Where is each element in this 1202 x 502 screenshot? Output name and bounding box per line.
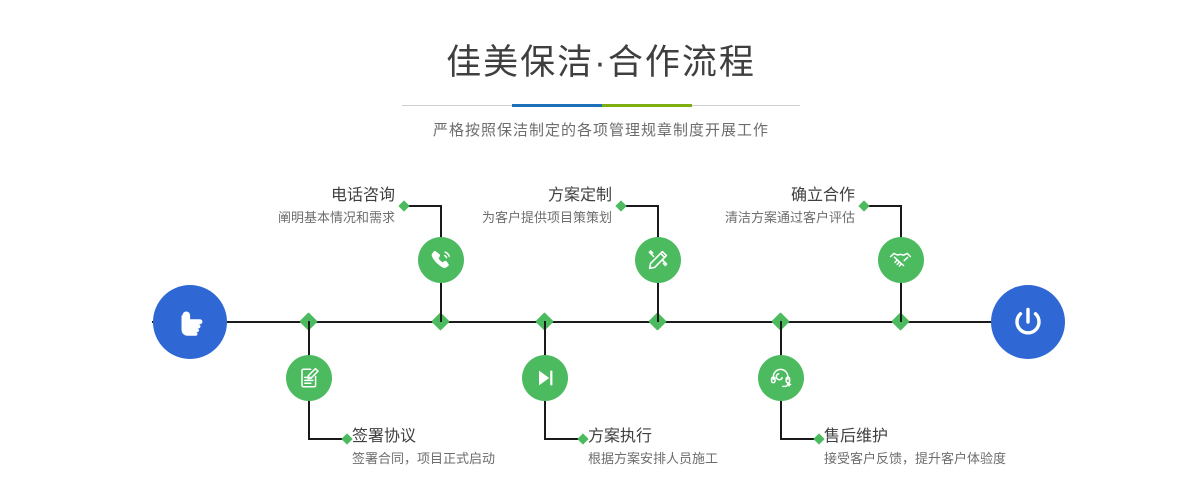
step-desc: 接受客户反馈，提升客户体验度	[824, 449, 1104, 469]
step-label-top-3: 确立合作 清洁方案通过客户评估	[610, 186, 855, 228]
support-headset-icon	[768, 365, 794, 391]
connector-horizontal-bottom-3	[780, 438, 817, 440]
step-title: 方案定制	[370, 186, 612, 206]
branch-dot-bottom-1	[341, 433, 352, 444]
pencil-ruler-icon	[645, 247, 671, 273]
step-label-top-1: 电话咨询 阐明基本情况和需求	[150, 186, 395, 228]
flowchart-canvas: 佳美保洁·合作流程 严格按照保洁制定的各项管理规章制度开展工作	[0, 0, 1202, 502]
divider-blue-segment	[512, 104, 602, 107]
page-title: 佳美保洁·合作流程	[0, 42, 1202, 84]
step-desc: 根据方案安排人员施工	[588, 449, 838, 469]
step-desc: 为客户提供项目策策划	[370, 208, 612, 228]
title-divider	[402, 104, 800, 107]
step-label-bottom-1: 签署协议 签署合同，项目正式启动	[352, 427, 602, 469]
play-next-icon	[532, 365, 558, 391]
step-desc: 清洁方案通过客户评估	[610, 208, 855, 228]
branch-dot-top-3	[858, 200, 869, 211]
step-icon-top-1	[418, 237, 464, 283]
step-title: 确立合作	[610, 186, 855, 206]
step-icon-bottom-2	[522, 355, 568, 401]
step-icon-top-3	[878, 237, 924, 283]
divider-green-segment	[602, 104, 692, 107]
power-icon	[1007, 301, 1049, 343]
step-title: 签署协议	[352, 427, 602, 447]
timeline-end-marker	[991, 285, 1065, 359]
contract-sign-icon	[296, 365, 322, 391]
page-subtitle: 严格按照保洁制定的各项管理规章制度开展工作	[0, 119, 1202, 140]
step-title: 电话咨询	[150, 186, 395, 206]
phone-call-icon	[428, 247, 454, 273]
step-label-bottom-2: 方案执行 根据方案安排人员施工	[588, 427, 838, 469]
step-icon-top-2	[635, 237, 681, 283]
header: 佳美保洁·合作流程 严格按照保洁制定的各项管理规章制度开展工作	[0, 0, 1202, 140]
handshake-icon	[888, 247, 914, 273]
step-desc: 阐明基本情况和需求	[150, 208, 395, 228]
pointing-hand-icon	[170, 302, 210, 342]
connector-horizontal-bottom-2	[544, 438, 581, 440]
connector-horizontal-top-3	[865, 205, 902, 207]
step-title: 方案执行	[588, 427, 838, 447]
step-label-top-2: 方案定制 为客户提供项目策策划	[370, 186, 612, 228]
timeline-axis	[152, 321, 1050, 323]
step-label-bottom-3: 售后维护 接受客户反馈，提升客户体验度	[824, 427, 1104, 469]
connector-horizontal-bottom-1	[308, 438, 345, 440]
step-desc: 签署合同，项目正式启动	[352, 449, 602, 469]
step-title: 售后维护	[824, 427, 1104, 447]
step-icon-bottom-1	[286, 355, 332, 401]
step-icon-bottom-3	[758, 355, 804, 401]
timeline-start-marker	[153, 285, 227, 359]
